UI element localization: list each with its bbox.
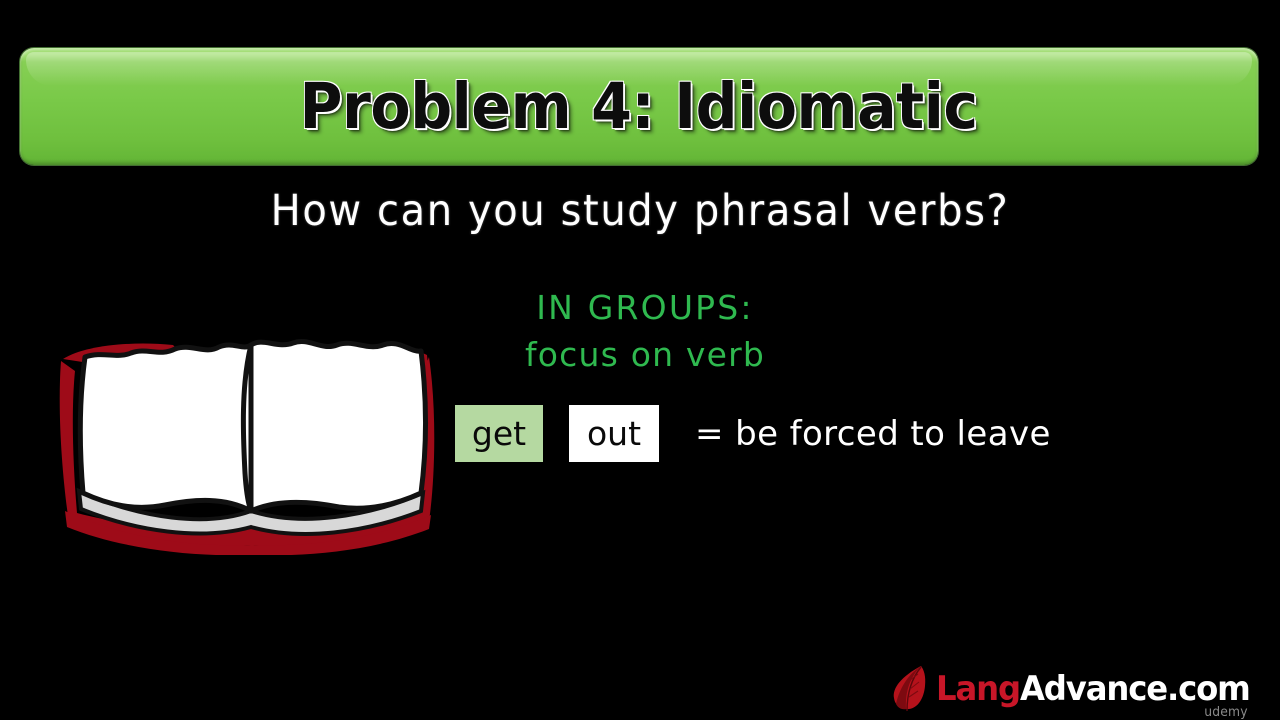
title-banner: Problem 4: Idiomatic — [20, 48, 1258, 165]
instruction-block: IN GROUPS: focus on verb — [440, 284, 850, 378]
instruction-line-focus-on-verb: focus on verb — [440, 331, 850, 378]
brand-logo: LangAdvance.com udemy — [888, 662, 1266, 712]
particle-chip: out — [569, 405, 659, 462]
open-book-icon — [55, 315, 455, 555]
page-title: Problem 4: Idiomatic — [300, 75, 978, 138]
instruction-line-in-groups: IN GROUPS: — [440, 284, 850, 331]
leaf-icon — [888, 664, 932, 712]
logo-lang-text: Lang — [936, 669, 1020, 709]
logo-platform-text: udemy — [1204, 706, 1248, 719]
logo-advance-text: Advance.com — [1020, 669, 1250, 709]
definition-text: = be forced to leave — [695, 417, 1051, 451]
phrasal-verb-example: get out = be forced to leave — [455, 405, 1051, 462]
verb-chip: get — [455, 405, 543, 462]
subtitle-question: How can you study phrasal verbs? — [0, 186, 1280, 235]
logo-wordmark: LangAdvance.com udemy — [936, 672, 1250, 712]
slide-canvas: Problem 4: Idiomatic How can you study p… — [0, 0, 1280, 720]
